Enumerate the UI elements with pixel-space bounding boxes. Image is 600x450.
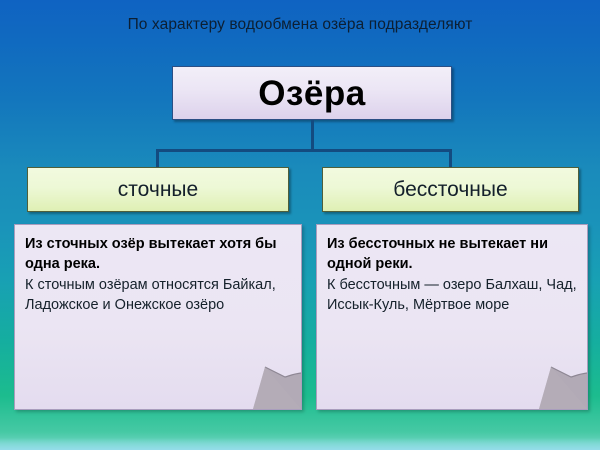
diagram-root-node: Озёра [172, 66, 452, 120]
content-panel-sochnye: Из сточных озёр вытекает хотя бы одна ре… [14, 224, 302, 410]
content-panel-bessochnye: Из бессточных не вытекает ни одной реки.… [316, 224, 588, 410]
connector-drop-left [156, 149, 159, 169]
content-panel-sochnye-text: Из сточных озёр вытекает хотя бы одна ре… [15, 225, 301, 315]
category-label-bessochnye: бессточные [393, 179, 507, 200]
diagram-root-label: Озёра [258, 76, 365, 111]
folded-corner-icon [241, 363, 301, 409]
connector-stem [311, 120, 314, 151]
slide-canvas: По характеру водообмена озёра подразделя… [0, 0, 600, 450]
folded-corner-icon [527, 363, 587, 409]
content-panel-bessochnye-text: Из бессточных не вытекает ни одной реки.… [317, 225, 587, 315]
category-node-bessochnye: бессточные [322, 167, 579, 212]
bottom-edge-highlight [0, 438, 600, 450]
content-panel-sochnye-heading: Из сточных озёр вытекает хотя бы одна ре… [25, 235, 293, 275]
category-label-sochnye: сточные [118, 179, 198, 200]
content-panel-sochnye-body: К сточным озёрам относятся Байкал, Ладож… [25, 276, 293, 316]
content-panel-bessochnye-heading: Из бессточных не вытекает ни одной реки. [327, 235, 579, 275]
content-panel-bessochnye-body: К бессточным — озеро Балхаш, Чад, Иссык-… [327, 276, 579, 316]
category-node-sochnye: сточные [27, 167, 289, 212]
connector-horizontal [156, 149, 452, 152]
connector-drop-right [449, 149, 452, 169]
slide-headline: По характеру водообмена озёра подразделя… [0, 16, 600, 34]
